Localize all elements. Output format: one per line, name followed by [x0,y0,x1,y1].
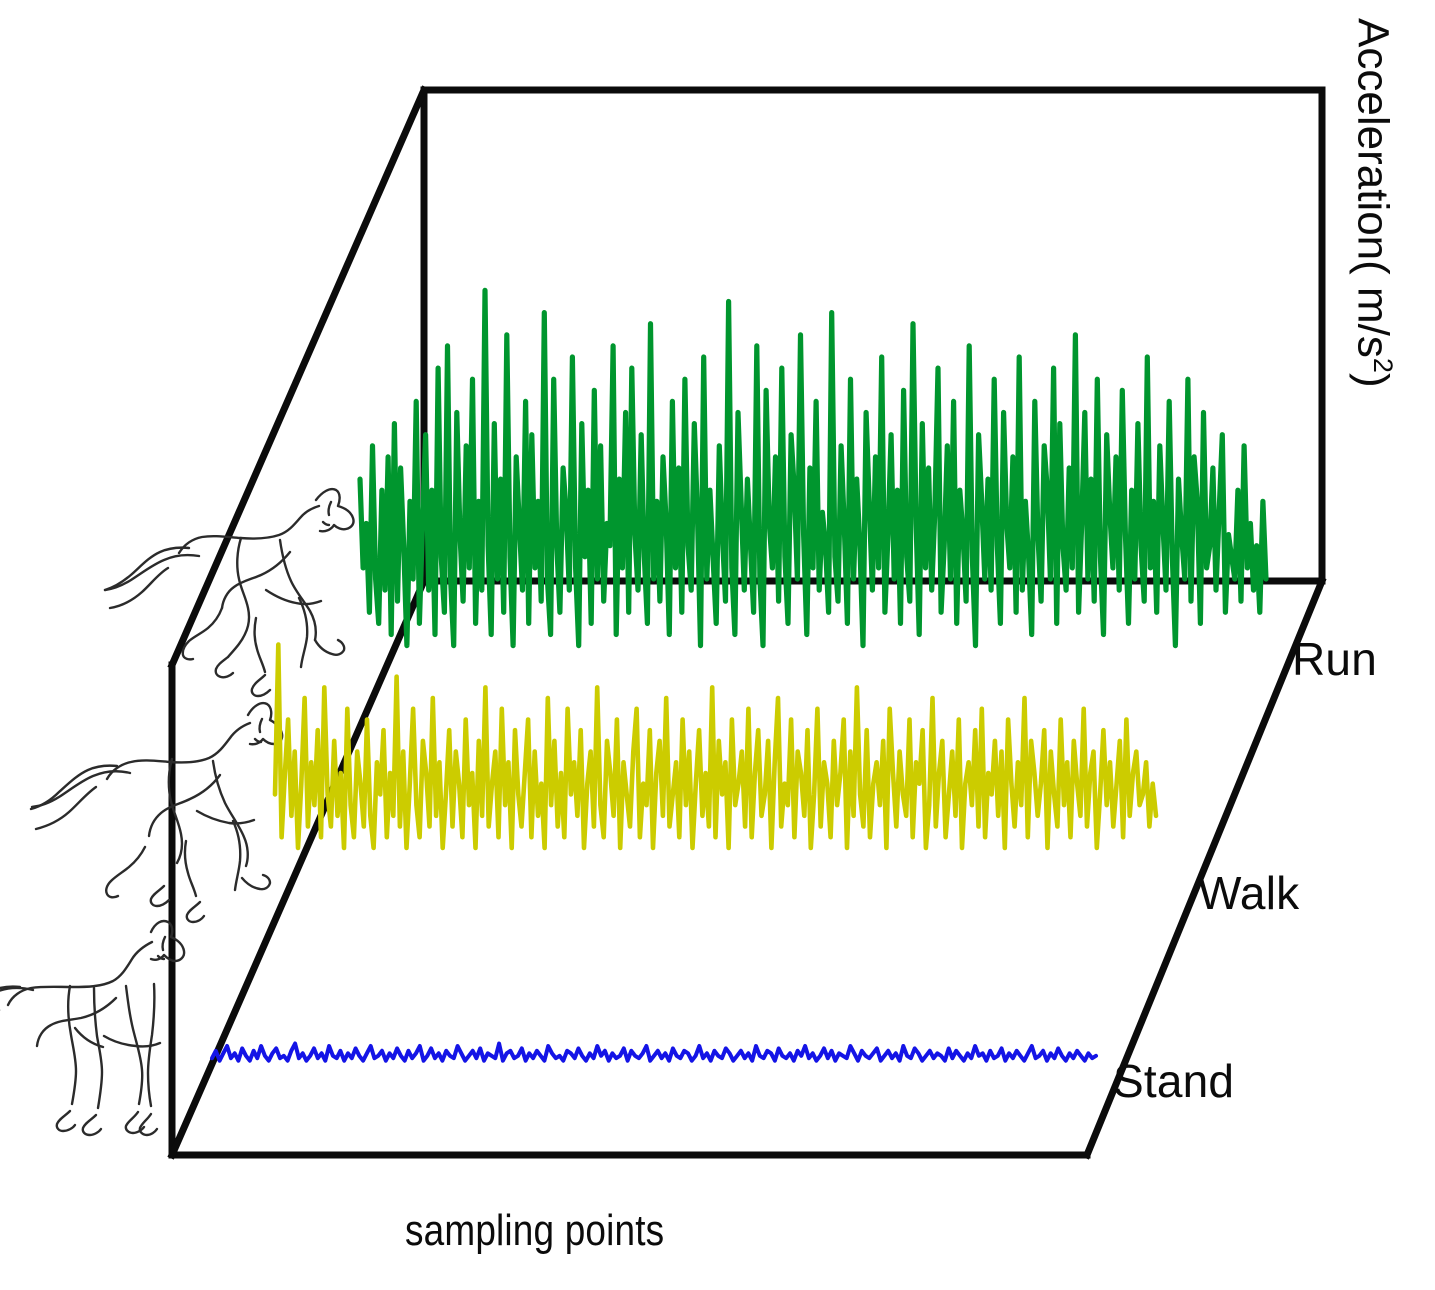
y-axis-label-exponent: 2 [1368,358,1398,373]
x-axis-label: sampling points [405,1206,664,1256]
axis-frame [172,90,1322,1155]
series-label-walk: Walk [1198,866,1299,920]
standing-horse-icon [0,921,184,1135]
series-label-run: Run [1292,632,1377,686]
chart-figure: Run Walk Stand sampling points Accelerat… [0,0,1435,1290]
trotting-horse-icon [31,703,282,922]
series-stand-trace [212,1044,1096,1061]
y-axis-label: Acceleration( m/s2) [1347,18,1398,388]
floor-diagonal [172,581,424,1155]
galloping-horse-icon [105,489,354,696]
series-walk-trace [275,645,1156,848]
y-axis-label-main: Acceleration( [1348,18,1397,275]
series-label-stand: Stand [1113,1054,1234,1108]
y-axis-label-close: ) [1348,373,1397,388]
y-axis-label-unit: m/s [1348,287,1397,358]
series-run-trace [360,290,1266,645]
y-axis-label-spacer [1348,275,1397,287]
